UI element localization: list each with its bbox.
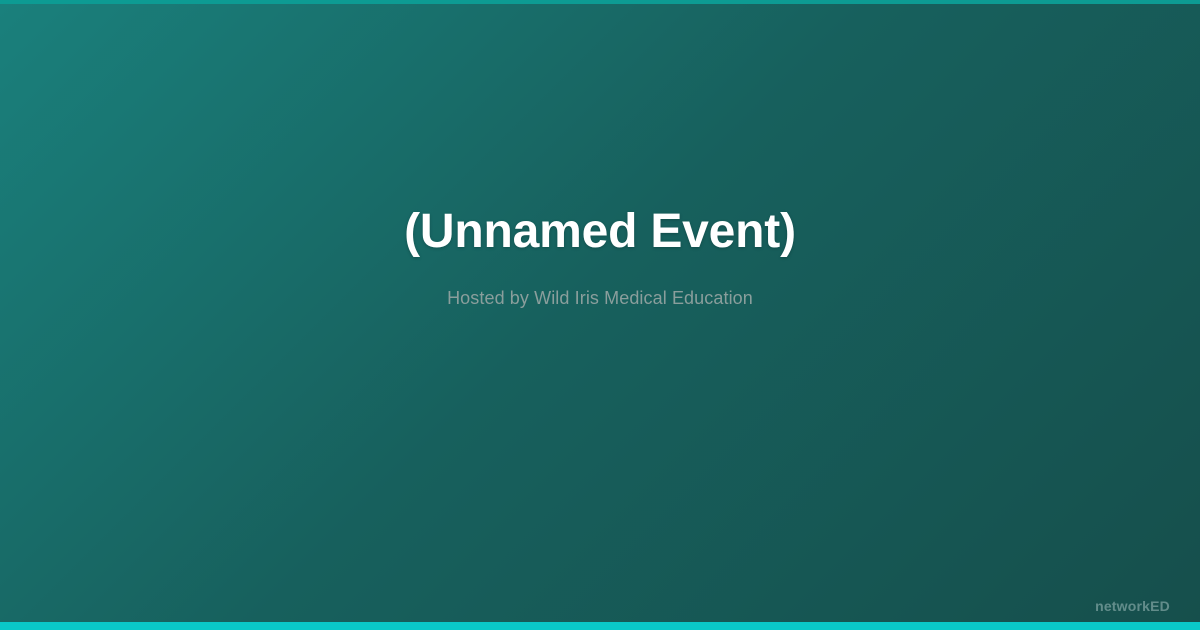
brand-watermark: networkED (1095, 598, 1170, 614)
event-title: (Unnamed Event) (324, 204, 876, 261)
card-content: (Unnamed Event) Hosted by Wild Iris Medi… (0, 0, 1200, 630)
bottom-accent-bar (0, 622, 1200, 630)
event-host-line: Hosted by Wild Iris Medical Education (367, 286, 833, 310)
top-accent-bar (0, 0, 1200, 4)
event-share-card: (Unnamed Event) Hosted by Wild Iris Medi… (0, 0, 1200, 630)
